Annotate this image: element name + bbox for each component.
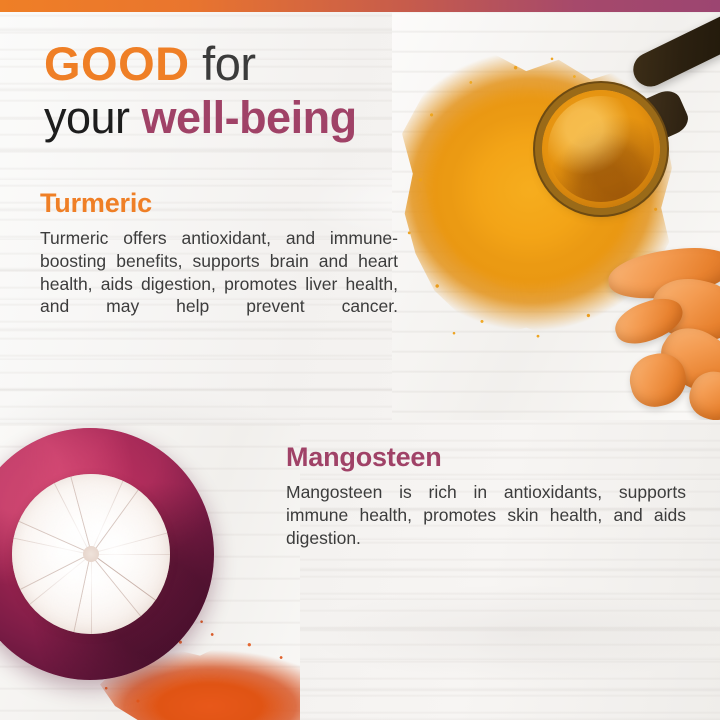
section-mangosteen: Mangosteen Mangosteen is rich in antioxi… (286, 442, 686, 572)
wooden-spoon-bowl (542, 90, 660, 208)
mangosteen-flesh (12, 474, 170, 634)
poster-canvas: GOOD for your well-being Turmeric Turmer… (0, 0, 720, 720)
top-gradient-bar (0, 0, 720, 12)
turmeric-root (600, 244, 720, 420)
section-title-mangosteen: Mangosteen (286, 442, 686, 473)
headline-line-2: your well-being (44, 95, 357, 140)
mangosteen-core (83, 546, 99, 562)
section-turmeric: Turmeric Turmeric offers antioxidant, an… (40, 188, 398, 341)
headline-your-word: your (44, 92, 142, 143)
section-body-turmeric: Turmeric offers antioxidant, and immune-… (40, 227, 398, 341)
section-body-mangosteen: Mangosteen is rich in antioxidants, supp… (286, 481, 686, 572)
turmeric-photo (392, 12, 720, 420)
headline-good-word: GOOD (44, 37, 190, 90)
mangosteen-photo (0, 424, 300, 720)
headline: GOOD for your well-being (44, 40, 357, 140)
section-title-turmeric: Turmeric (40, 188, 398, 219)
headline-for-word: for (190, 37, 256, 90)
headline-wellbeing-word: well-being (142, 92, 357, 143)
headline-line-1: GOOD for (44, 40, 357, 87)
